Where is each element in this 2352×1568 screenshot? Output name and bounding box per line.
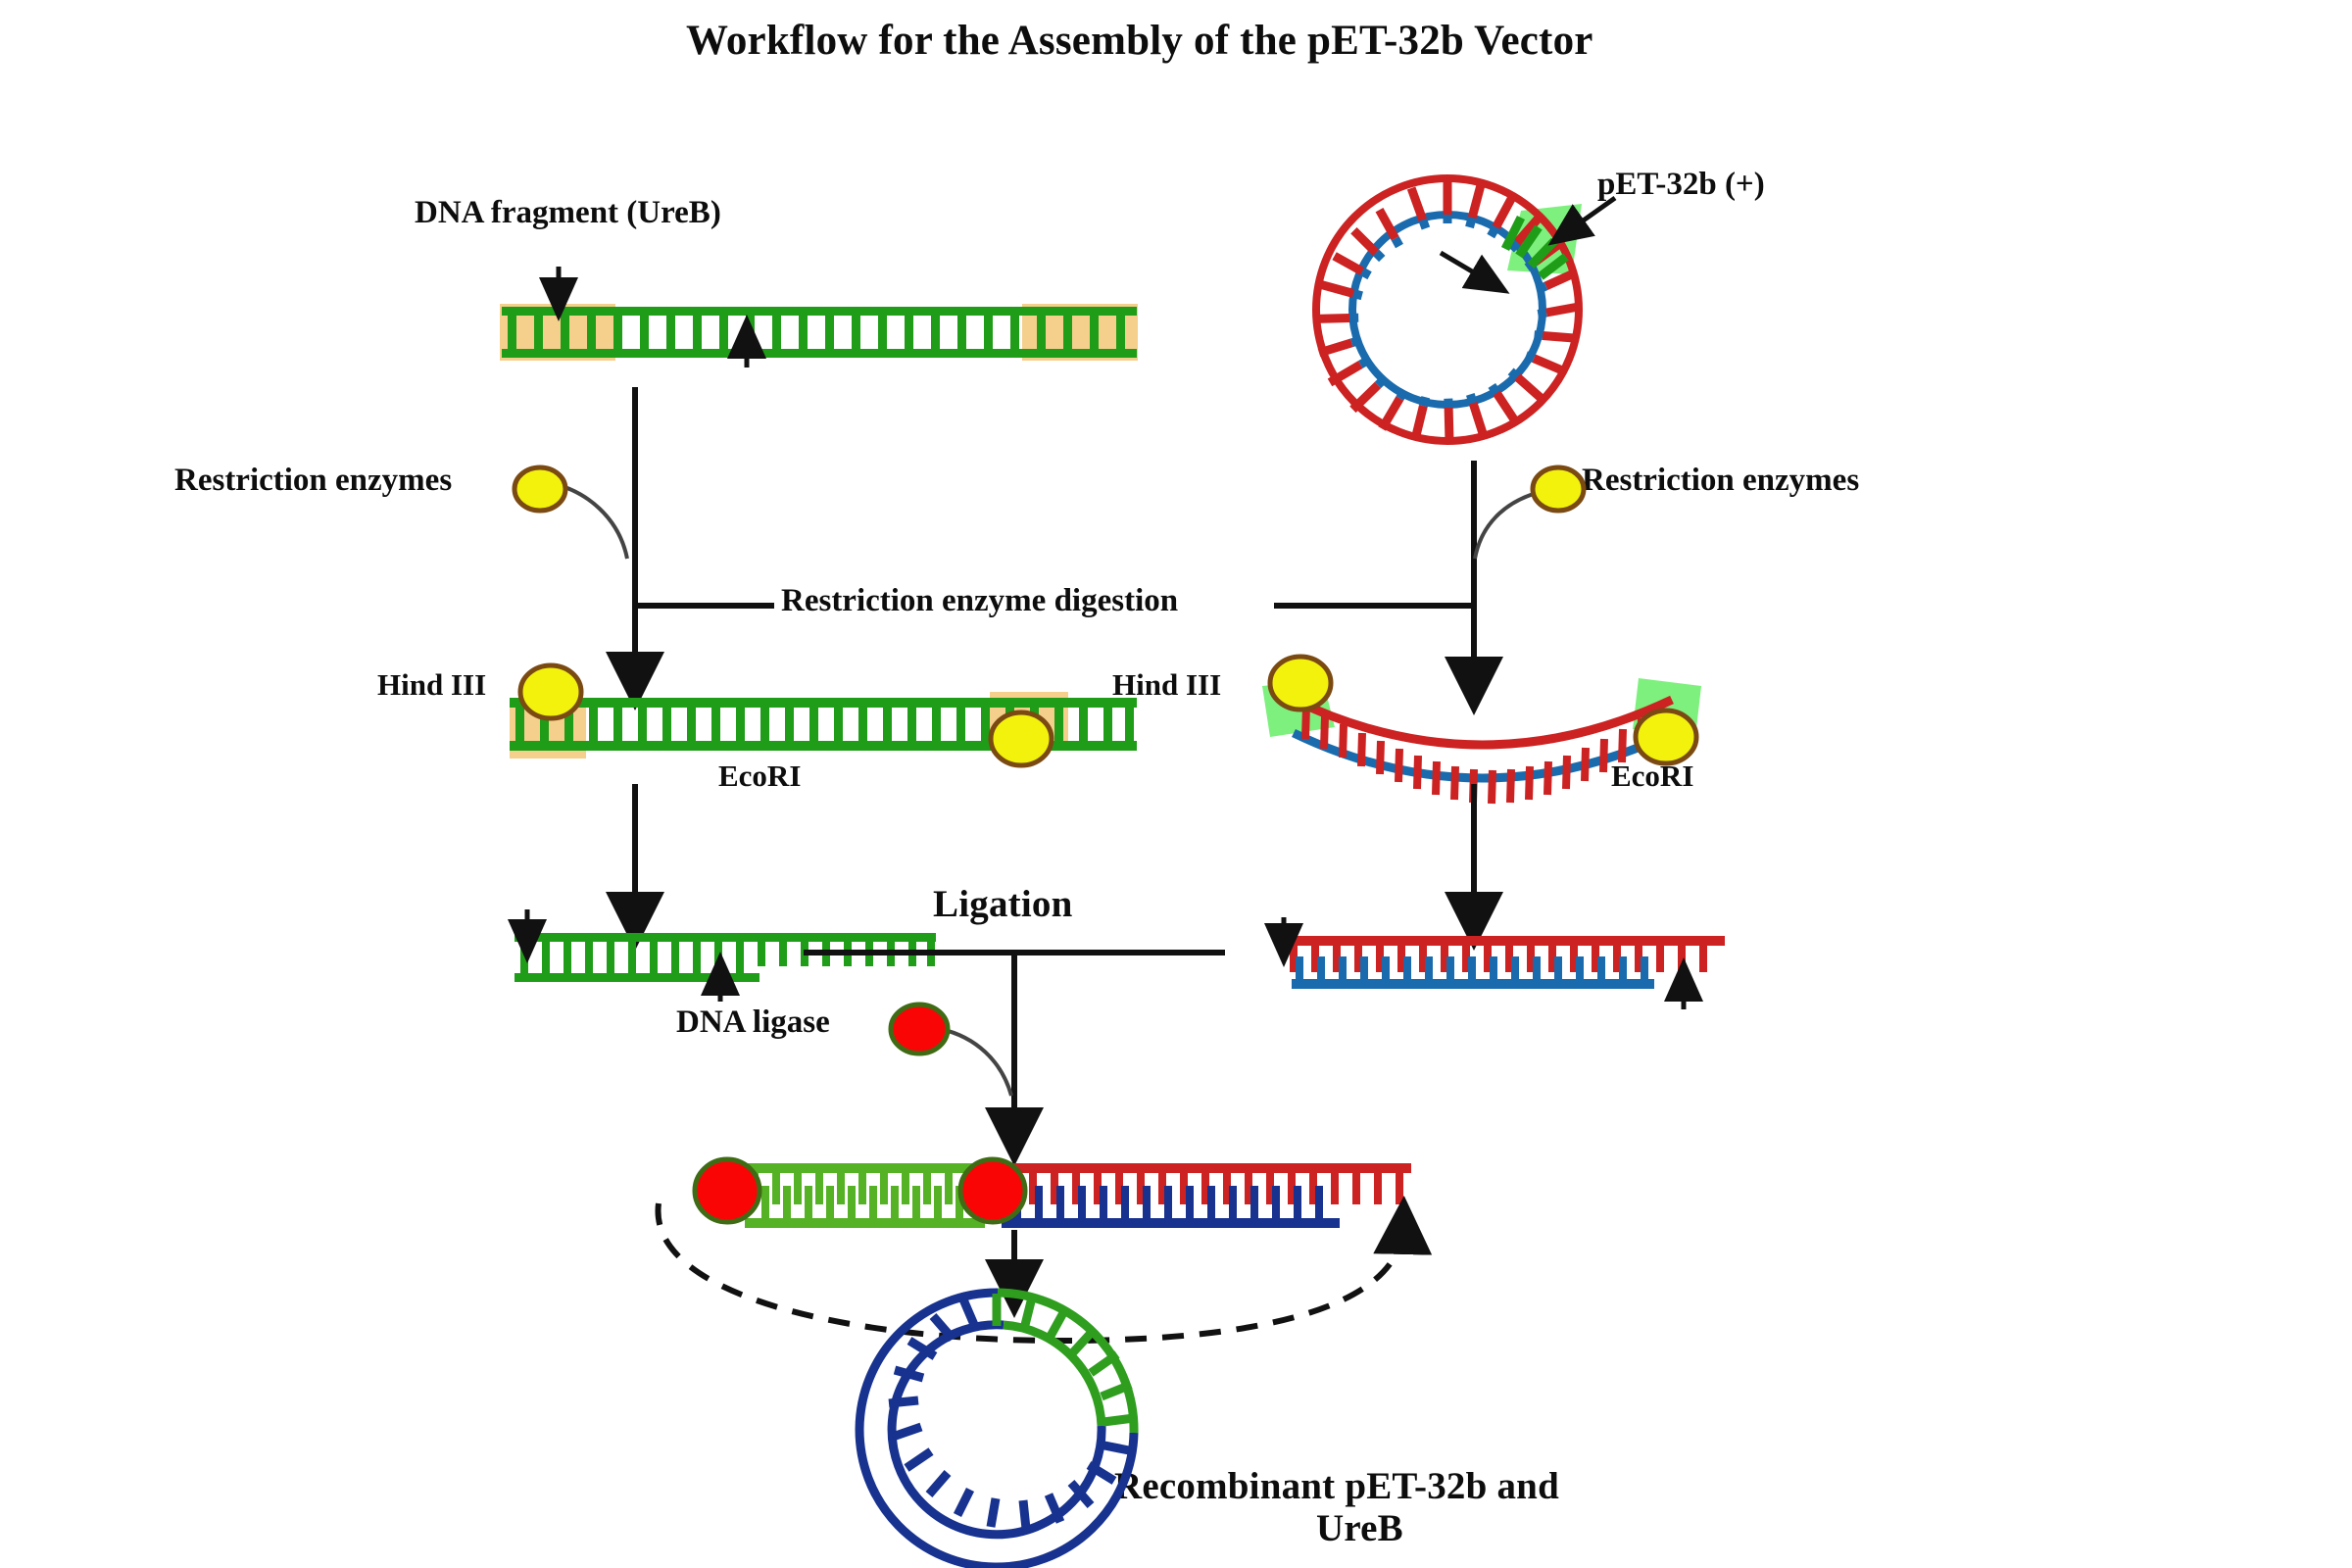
restriction-enzyme-marker-left[interactable] bbox=[514, 467, 565, 511]
ligated-construct bbox=[658, 1159, 1411, 1341]
hind-iii-right-label: Hind III bbox=[1112, 668, 1221, 703]
ecori-enzyme-right[interactable] bbox=[1636, 710, 1696, 763]
product-caption-line2: UreB bbox=[1316, 1507, 1403, 1550]
digestion-flow-left bbox=[547, 387, 635, 681]
hind-iii-enzyme-left[interactable] bbox=[520, 665, 581, 718]
ligation-flow bbox=[804, 953, 1225, 1137]
hind-iii-enzyme-right[interactable] bbox=[1270, 657, 1331, 710]
figure-title: Workflow for the Assembly of the pET-32b… bbox=[686, 18, 1593, 65]
insert-title-label: DNA fragment (UreB) bbox=[415, 195, 721, 231]
ecori-right-label: EcoRI bbox=[1611, 759, 1693, 794]
restriction-enzymes-left-label: Restriction enzymes bbox=[174, 463, 452, 499]
ligation-step-label: Ligation bbox=[933, 883, 1072, 926]
hind-iii-left-label: Hind III bbox=[377, 668, 486, 703]
plasmid-pet32b-circle bbox=[1316, 178, 1615, 441]
circularization-dashed-arc bbox=[658, 1203, 1403, 1341]
recombinant-plasmid-circle bbox=[859, 1293, 1134, 1567]
vector-sticky-linear bbox=[1284, 917, 1725, 1009]
diagram-graphics bbox=[0, 0, 2352, 1568]
vector-title-label: pET-32b (+) bbox=[1597, 167, 1765, 203]
dna-ligase-label: DNA ligase bbox=[676, 1004, 830, 1041]
insert-sticky-fragment bbox=[514, 909, 936, 1002]
insert-duplex-uncut bbox=[500, 267, 1138, 367]
ecori-enzyme-left[interactable] bbox=[991, 712, 1052, 765]
restriction-enzymes-right-label: Restriction enzymes bbox=[1582, 463, 1859, 499]
dna-ligase-marker[interactable] bbox=[891, 1004, 948, 1053]
mcs-rungs bbox=[1505, 218, 1566, 276]
dna-ligase-joint-left[interactable] bbox=[695, 1159, 759, 1222]
ecori-left-label: EcoRI bbox=[718, 759, 801, 794]
digestion-flow-right bbox=[1474, 461, 1548, 686]
restriction-enzyme-marker-right[interactable] bbox=[1533, 467, 1584, 511]
dna-ligase-joint-right[interactable] bbox=[960, 1159, 1025, 1222]
digestion-step-label: Restriction enzyme digestion bbox=[781, 583, 1178, 619]
product-caption-line1: Recombinant pET-32b and bbox=[1114, 1465, 1559, 1508]
plasmid-rungs bbox=[1316, 178, 1579, 441]
mcs-green-highlight bbox=[1507, 204, 1582, 274]
figure-canvas: Workflow for the Assembly of the pET-32b… bbox=[0, 0, 2352, 1568]
